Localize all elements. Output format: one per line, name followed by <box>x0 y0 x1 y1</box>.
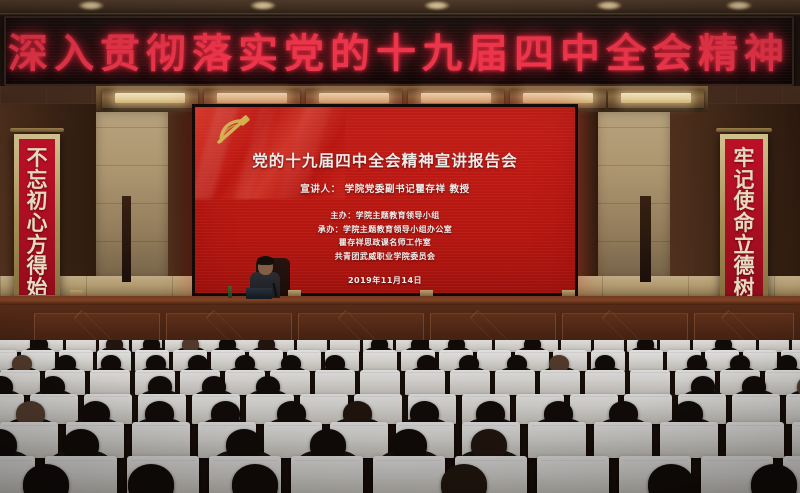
banner-char: 记 <box>734 170 755 192</box>
organizer-line: 主办：学院主题教育领导小组 <box>330 210 439 221</box>
event-date: 2019年11月14日 <box>348 275 422 286</box>
banner-char: 方 <box>27 235 48 257</box>
banner-char: 牢 <box>734 148 755 170</box>
presidium-table-top <box>0 296 800 305</box>
led-banner-text: 深入贯彻落实党的十九届四中全会精神 <box>8 21 790 79</box>
speaker-hair <box>257 256 274 265</box>
banner-char: 得 <box>27 256 48 278</box>
audience-chair <box>315 370 355 395</box>
audience-chair <box>726 422 784 458</box>
banner-char: 初 <box>27 191 48 213</box>
banner-char: 不 <box>27 148 48 170</box>
ceiling-spot-light <box>726 1 752 10</box>
organizer-line: 承办：学院主题教育领导小组办公室 <box>318 224 452 235</box>
ceiling-surface <box>0 0 800 16</box>
wall-door-right <box>640 196 651 282</box>
wall-column-inner-right <box>576 104 598 282</box>
banner-char: 立 <box>734 235 755 257</box>
ceiling-spot-light <box>596 1 622 10</box>
audience-chair <box>792 422 800 458</box>
audience-chair <box>660 422 718 458</box>
left-vertical-banner: 不 忘 初 心 方 得 始 终 <box>14 134 60 300</box>
audience-chair <box>786 394 800 424</box>
audience-chair <box>450 370 490 395</box>
audience-chair <box>537 456 609 493</box>
stage-led-screen: 党的十九届四中全会精神宣讲报告会 宣讲人： 学院党委副书记瞿存祥 教授 主办：学… <box>192 104 578 296</box>
event-title: 党的十九届四中全会精神宣讲报告会 <box>252 149 518 171</box>
nameplate <box>288 290 301 296</box>
audience-chair <box>291 456 363 493</box>
wall-door-left <box>122 196 131 282</box>
audience-chair <box>630 370 670 395</box>
audience-chair <box>405 370 445 395</box>
right-banner-rod <box>716 128 772 132</box>
audience-chair <box>585 370 625 395</box>
wall-column-inner-left <box>168 104 194 282</box>
audience-chair <box>594 422 652 458</box>
speaker-line: 宣讲人： 学院党委副书记瞿存祥 教授 <box>300 181 469 195</box>
wall-panel-right <box>596 112 670 280</box>
led-scrolling-banner: 深入贯彻落实党的十九届四中全会精神 <box>4 16 794 86</box>
organizer-line: 瞿存祥思政课名师工作室 <box>339 237 431 248</box>
audience-chair <box>540 370 580 395</box>
water-bottle <box>228 286 232 298</box>
audience-chair <box>732 394 780 424</box>
audience-chair <box>629 350 663 371</box>
recessed-light-panel <box>608 89 704 108</box>
right-vertical-banner: 牢 记 使 命 立 德 树 人 <box>720 134 768 302</box>
laptop <box>246 288 272 299</box>
banner-char: 忘 <box>27 170 48 192</box>
banner-char: 心 <box>27 213 48 235</box>
lecture-hall-photo: 深入贯彻落实党的十九届四中全会精神 <box>0 0 800 493</box>
audience-seating <box>0 340 800 493</box>
banner-char: 使 <box>734 191 755 213</box>
ceiling-spot-light <box>424 1 450 10</box>
screen-text-block: 党的十九届四中全会精神宣讲报告会 宣讲人： 学院党委副书记瞿存祥 教授 主办：学… <box>195 107 575 293</box>
audience-chair <box>132 422 190 458</box>
audience-chair <box>528 422 586 458</box>
audience-chair <box>360 370 400 395</box>
audience-chair <box>495 370 535 395</box>
ceiling-spot-light <box>250 1 276 10</box>
recessed-light-panel <box>102 89 198 108</box>
left-banner-rod <box>10 128 64 132</box>
banner-char: 德 <box>734 256 755 278</box>
organizer-lines: 主办：学院主题教育领导小组 承办：学院主题教育领导小组办公室 瞿存祥思政课名师工… <box>318 210 452 262</box>
audience-chair <box>90 370 130 395</box>
ceiling-spot-light <box>78 1 104 10</box>
banner-char: 命 <box>734 213 755 235</box>
audience-chair <box>363 350 397 371</box>
organizer-line: 共青团武威职业学院委员会 <box>335 251 436 262</box>
wall-panel-left <box>96 112 168 280</box>
nameplate <box>562 290 575 296</box>
audience-chair <box>373 456 445 493</box>
nameplate <box>70 290 83 296</box>
nameplate <box>420 290 433 296</box>
